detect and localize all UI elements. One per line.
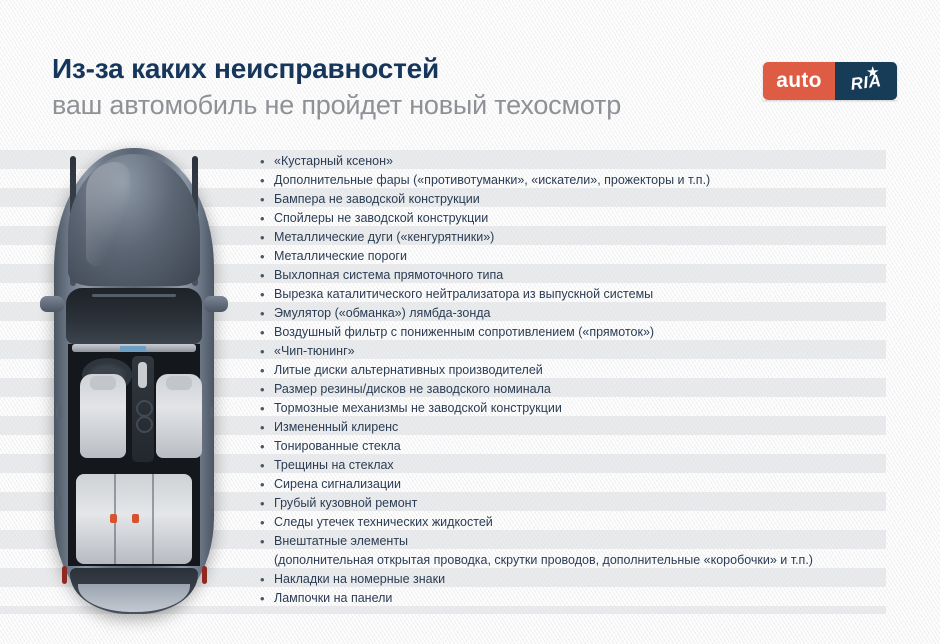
list-item-label: «Кустарный ксенон» <box>274 152 393 171</box>
list-item: •Сирена сигнализации <box>258 475 888 494</box>
bullet-icon: • <box>258 304 274 323</box>
list-item: •Выхлопная система прямоточного типа <box>258 266 888 285</box>
list-item: •«Кустарный ксенон» <box>258 152 888 171</box>
header: Из-за каких неисправностей ваш автомобил… <box>52 52 621 122</box>
list-item: •Грубый кузовной ремонт <box>258 494 888 513</box>
side-mirror-left-icon <box>40 296 64 312</box>
list-item: •Размер резины/дисков не заводского номи… <box>258 380 888 399</box>
list-item-label: Вырезка каталитического нейтрализатора и… <box>274 285 653 304</box>
bullet-icon: • <box>258 361 274 380</box>
list-item-label: Размер резины/дисков не заводского номин… <box>274 380 551 399</box>
list-item: •Металлические пороги <box>258 247 888 266</box>
wiper-icon <box>92 294 176 297</box>
bullet-icon: • <box>258 323 274 342</box>
list-item-label: Лампочки на панели <box>274 589 392 608</box>
page-subtitle: ваш автомобиль не пройдет новый техосмот… <box>52 88 621 122</box>
bullet-icon: • <box>258 152 274 171</box>
list-item: •Накладки на номерные знаки <box>258 570 888 589</box>
bullet-icon: • <box>258 247 274 266</box>
bullet-icon: • <box>258 266 274 285</box>
bullet-icon: • <box>258 570 274 589</box>
bullet-icon: • <box>258 494 274 513</box>
seatbelt-buckle-icon <box>132 514 139 523</box>
autoria-logo[interactable]: auto ★ RIA <box>763 62 897 100</box>
bullet-icon: • <box>258 456 274 475</box>
list-item: •Тормозные механизмы не заводской констр… <box>258 399 888 418</box>
list-item-label: Спойлеры не заводской конструкции <box>274 209 488 228</box>
list-item: •Тонированные стекла <box>258 437 888 456</box>
headrest-left <box>90 376 116 390</box>
bullet-icon: • <box>258 589 274 608</box>
list-item-label: Внештатные элементы(дополнительная откры… <box>274 532 813 570</box>
bullet-icon: • <box>258 228 274 247</box>
list-item-label: «Чип-тюнинг» <box>274 342 355 361</box>
list-item: •Следы утечек технических жидкостей <box>258 513 888 532</box>
bullet-icon: • <box>258 190 274 209</box>
list-item-label: Литые диски альтернативных производителе… <box>274 361 543 380</box>
door-handle-icon <box>56 496 61 509</box>
list-item-label: Трещины на стеклах <box>274 456 394 475</box>
page-title: Из-за каких неисправностей <box>52 52 621 86</box>
list-item-label: Воздушный фильтр с пониженным сопротивле… <box>274 323 654 342</box>
list-item: •Дополнительные фары («противотуманки», … <box>258 171 888 190</box>
list-item-label: Металлические дуги («кенгурятники») <box>274 228 494 247</box>
bullet-icon: • <box>258 418 274 437</box>
bullet-icon: • <box>258 513 274 532</box>
list-item: •Измененный клиренс <box>258 418 888 437</box>
side-mirror-right-icon <box>204 296 228 312</box>
list-item: •Трещины на стеклах <box>258 456 888 475</box>
door-handle-icon <box>56 406 61 419</box>
door-handle-icon <box>208 406 213 419</box>
hood-highlight <box>86 162 130 266</box>
taillight-left-icon <box>62 566 67 584</box>
list-item: •Металлические дуги («кенгурятники») <box>258 228 888 247</box>
car-illustration <box>46 148 222 614</box>
cup-holder-icon <box>136 400 153 417</box>
list-item-label: Тормозные механизмы не заводской констру… <box>274 399 562 418</box>
list-item-label: Металлические пороги <box>274 247 407 266</box>
list-item: •Эмулятор («обманка») лямбда-зонда <box>258 304 888 323</box>
logo-ria-text: RIA <box>835 69 897 96</box>
taillight-right-icon <box>202 566 207 584</box>
bullet-icon: • <box>258 380 274 399</box>
bench-divider <box>152 474 154 564</box>
cup-holder-icon <box>136 416 153 433</box>
list-item: •Лампочки на панели <box>258 589 888 608</box>
list-item-label: Тонированные стекла <box>274 437 401 456</box>
headrest-right <box>166 376 192 390</box>
list-item-label: Накладки на номерные знаки <box>274 570 445 589</box>
bullet-icon: • <box>258 209 274 228</box>
bullet-icon: • <box>258 285 274 304</box>
door-handle-icon <box>208 496 213 509</box>
list-item: •Воздушный фильтр с пониженным сопротивл… <box>258 323 888 342</box>
list-item: •«Чип-тюнинг» <box>258 342 888 361</box>
logo-ria-block: ★ RIA <box>835 62 897 100</box>
list-item-label: Эмулятор («обманка») лямбда-зонда <box>274 304 490 323</box>
list-item: •Вырезка каталитического нейтрализатора … <box>258 285 888 304</box>
dashboard-screen-icon <box>120 346 146 351</box>
list-item-label: Выхлопная система прямоточного типа <box>274 266 503 285</box>
bullet-icon: • <box>258 532 274 551</box>
defects-list: •«Кустарный ксенон»•Дополнительные фары … <box>258 152 888 608</box>
list-item: •Внештатные элементы(дополнительная откр… <box>258 532 888 570</box>
seatbelt-buckle-icon <box>110 514 117 523</box>
list-item: •Литые диски альтернативных производител… <box>258 361 888 380</box>
bullet-icon: • <box>258 475 274 494</box>
list-item-label: Измененный клиренс <box>274 418 398 437</box>
list-item-label: Сирена сигнализации <box>274 475 401 494</box>
bullet-icon: • <box>258 342 274 361</box>
logo-auto-text: auto <box>763 62 835 100</box>
bullet-icon: • <box>258 437 274 456</box>
list-item-label: Следы утечек технических жидкостей <box>274 513 493 532</box>
list-item-label: Дополнительные фары («противотуманки», «… <box>274 171 710 190</box>
list-item: •Бампера не заводской конструкции <box>258 190 888 209</box>
list-item-label: Бампера не заводской конструкции <box>274 190 480 209</box>
bullet-icon: • <box>258 399 274 418</box>
list-item-sublabel: (дополнительная открытая проводка, скрут… <box>274 551 813 570</box>
list-item: •Спойлеры не заводской конструкции <box>258 209 888 228</box>
list-item-label: Грубый кузовной ремонт <box>274 494 417 513</box>
gear-shifter-icon <box>138 362 147 388</box>
bullet-icon: • <box>258 171 274 190</box>
rear-hatch <box>78 584 190 612</box>
